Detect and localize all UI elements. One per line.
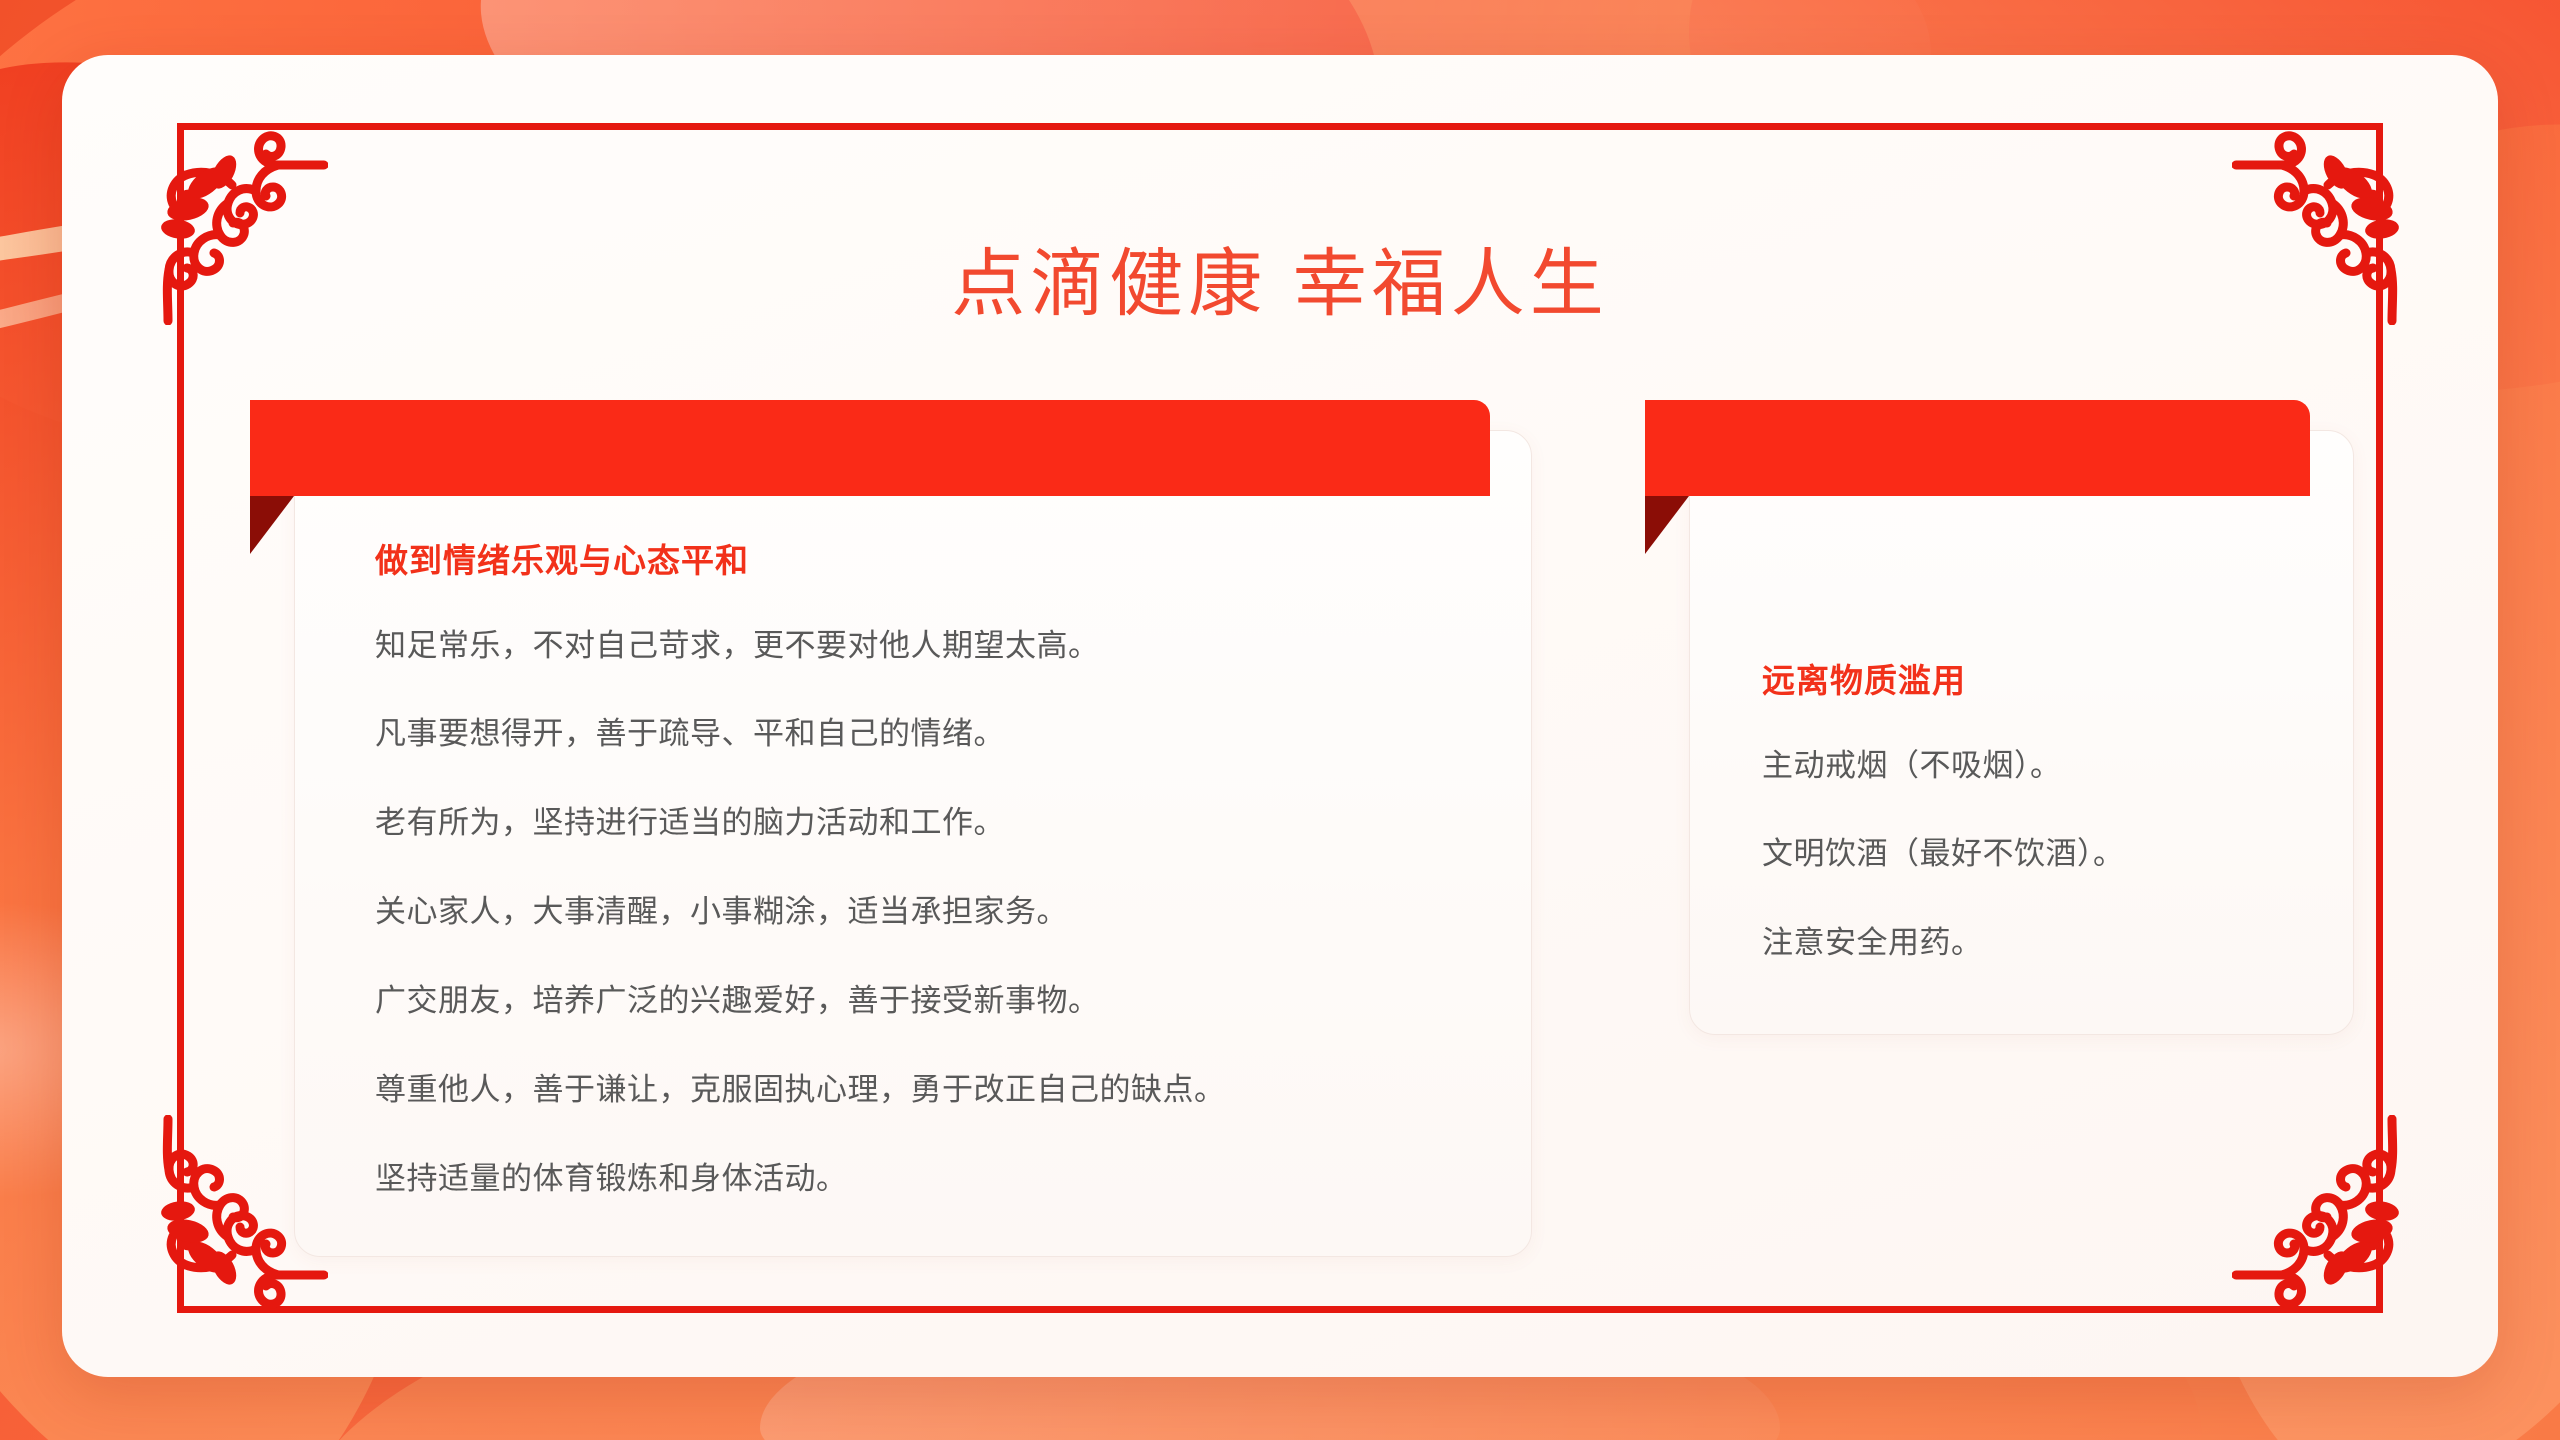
card-line: 广交朋友，培养广泛的兴趣爱好，善于接受新事物。 bbox=[375, 980, 1531, 1022]
card-line: 关心家人，大事清醒，小事糊涂，适当承担家务。 bbox=[375, 891, 1531, 933]
card-line: 老有所为，坚持进行适当的脑力活动和工作。 bbox=[375, 802, 1531, 844]
card-body-left: 做到情绪乐观与心态平和 知足常乐，不对自己苛求，更不要对他人期望太高。 凡事要想… bbox=[375, 541, 1531, 1200]
ribbon-tab-right bbox=[1645, 400, 2310, 496]
content-column-left: 做到情绪乐观与心态平和 知足常乐，不对自己苛求，更不要对他人期望太高。 凡事要想… bbox=[250, 400, 1490, 1300]
card-line: 尊重他人，善于谦让，克服固执心理，勇于改正自己的缺点。 bbox=[375, 1069, 1531, 1111]
content-card-right: 远离物质滥用 主动戒烟（不吸烟）。 文明饮酒（最好不饮酒）。 注意安全用药。 bbox=[1689, 430, 2354, 1035]
card-body-right: 远离物质滥用 主动戒烟（不吸烟）。 文明饮酒（最好不饮酒）。 注意安全用药。 bbox=[1762, 541, 2353, 964]
content-column-right: 远离物质滥用 主动戒烟（不吸烟）。 文明饮酒（最好不饮酒）。 注意安全用药。 bbox=[1645, 400, 2310, 1300]
card-line: 文明饮酒（最好不饮酒）。 bbox=[1762, 833, 2353, 875]
ribbon-fold-right bbox=[1645, 496, 1689, 554]
content-columns: 做到情绪乐观与心态平和 知足常乐，不对自己苛求，更不要对他人期望太高。 凡事要想… bbox=[62, 400, 2498, 1300]
card-line: 主动戒烟（不吸烟）。 bbox=[1762, 745, 2353, 787]
card-heading-left: 做到情绪乐观与心态平和 bbox=[375, 541, 1531, 581]
card-line: 注意安全用药。 bbox=[1762, 922, 2353, 964]
card-line: 坚持适量的体育锻炼和身体活动。 bbox=[375, 1158, 1531, 1200]
ribbon-bar-left bbox=[250, 400, 1490, 496]
ribbon-tab-left bbox=[250, 400, 1490, 496]
content-card-left: 做到情绪乐观与心态平和 知足常乐，不对自己苛求，更不要对他人期望太高。 凡事要想… bbox=[294, 430, 1532, 1257]
card-line: 知足常乐，不对自己苛求，更不要对他人期望太高。 bbox=[375, 625, 1531, 667]
card-heading-right: 远离物质滥用 bbox=[1762, 661, 2353, 701]
card-line: 凡事要想得开，善于疏导、平和自己的情绪。 bbox=[375, 713, 1531, 755]
card-spacer-right bbox=[1762, 541, 2353, 661]
slide-root: 点滴健康 幸福人生 做到情绪乐观与心态平和 知足常乐，不对自己苛求，更不要对他人… bbox=[0, 0, 2560, 1440]
ribbon-bar-right bbox=[1645, 400, 2310, 496]
slide-panel: 点滴健康 幸福人生 做到情绪乐观与心态平和 知足常乐，不对自己苛求，更不要对他人… bbox=[62, 55, 2498, 1377]
page-title: 点滴健康 幸福人生 bbox=[62, 247, 2498, 321]
ribbon-fold-left bbox=[250, 496, 294, 554]
